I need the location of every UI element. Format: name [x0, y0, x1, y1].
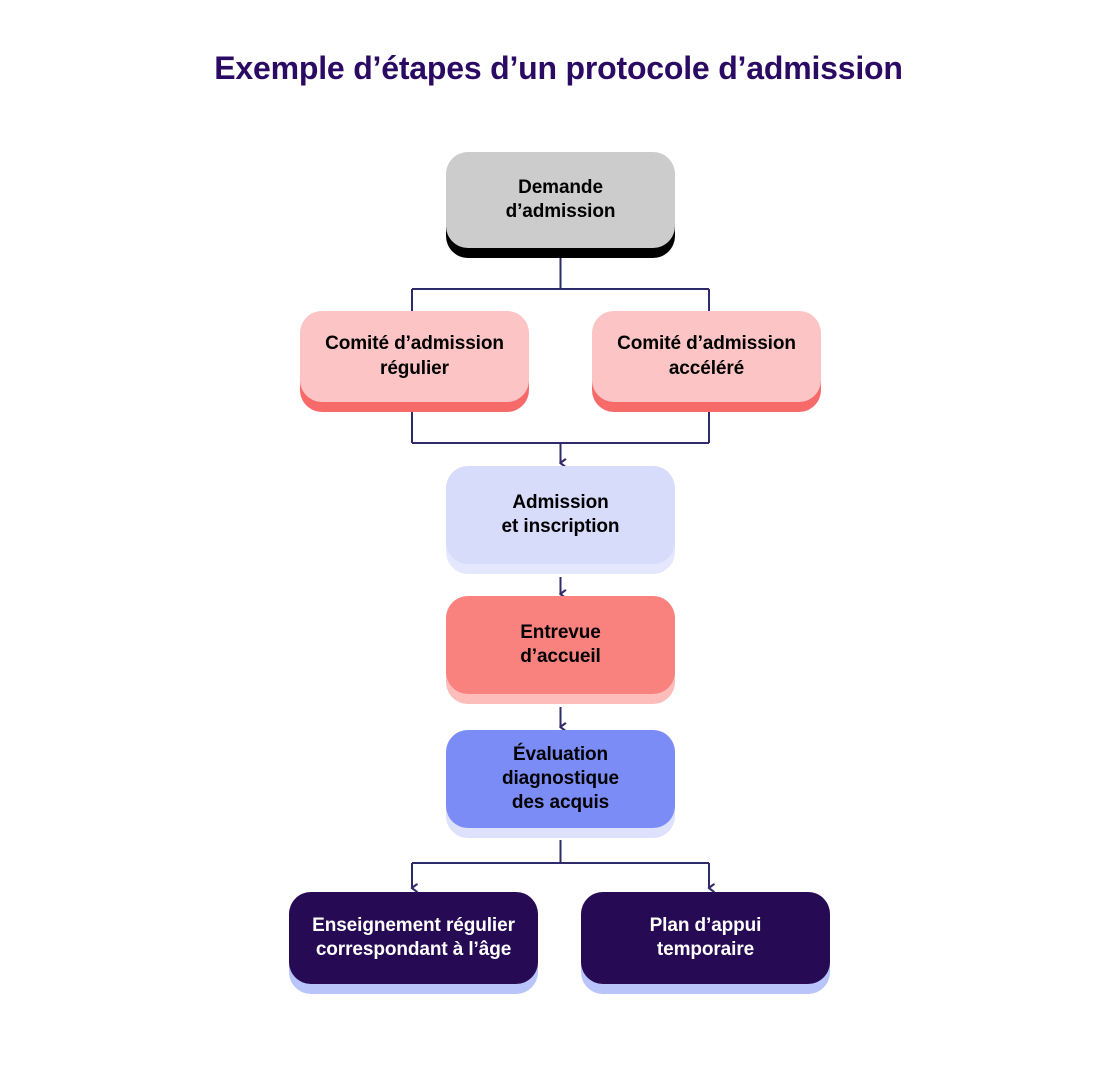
node-label-comite-accelere: Comité d’admission accéléré: [617, 332, 796, 381]
node-label-evaluation-diagnostique: Évaluation diagnostique des acquis: [502, 743, 619, 816]
node-label-entrevue-accueil: Entrevue d’accueil: [520, 621, 601, 670]
flowchart-canvas: Exemple d’étapes d’un protocole d’admiss…: [0, 0, 1117, 1080]
node-evaluation-diagnostique[interactable]: Évaluation diagnostique des acquis: [446, 730, 675, 828]
node-comite-accelere[interactable]: Comité d’admission accéléré: [592, 311, 821, 402]
node-demande[interactable]: Demande d’admission: [446, 152, 675, 248]
node-label-comite-regulier: Comité d’admission régulier: [325, 332, 504, 381]
page-title: Exemple d’étapes d’un protocole d’admiss…: [0, 50, 1117, 87]
node-label-enseignement-regulier: Enseignement régulier correspondant à l’…: [312, 914, 515, 963]
node-admission-inscription[interactable]: Admission et inscription: [446, 466, 675, 564]
node-entrevue-accueil[interactable]: Entrevue d’accueil: [446, 596, 675, 694]
edge-evaluation-to-outcomes: [412, 840, 709, 888]
node-label-plan-appui: Plan d’appui temporaire: [650, 914, 762, 963]
node-label-demande: Demande d’admission: [506, 176, 616, 225]
node-enseignement-regulier[interactable]: Enseignement régulier correspondant à l’…: [289, 892, 538, 984]
edge-demande-to-comites: [412, 258, 709, 316]
node-comite-regulier[interactable]: Comité d’admission régulier: [300, 311, 529, 402]
node-label-admission-inscription: Admission et inscription: [502, 491, 620, 540]
node-plan-appui[interactable]: Plan d’appui temporaire: [581, 892, 830, 984]
edge-comites-to-admission: [412, 410, 709, 463]
